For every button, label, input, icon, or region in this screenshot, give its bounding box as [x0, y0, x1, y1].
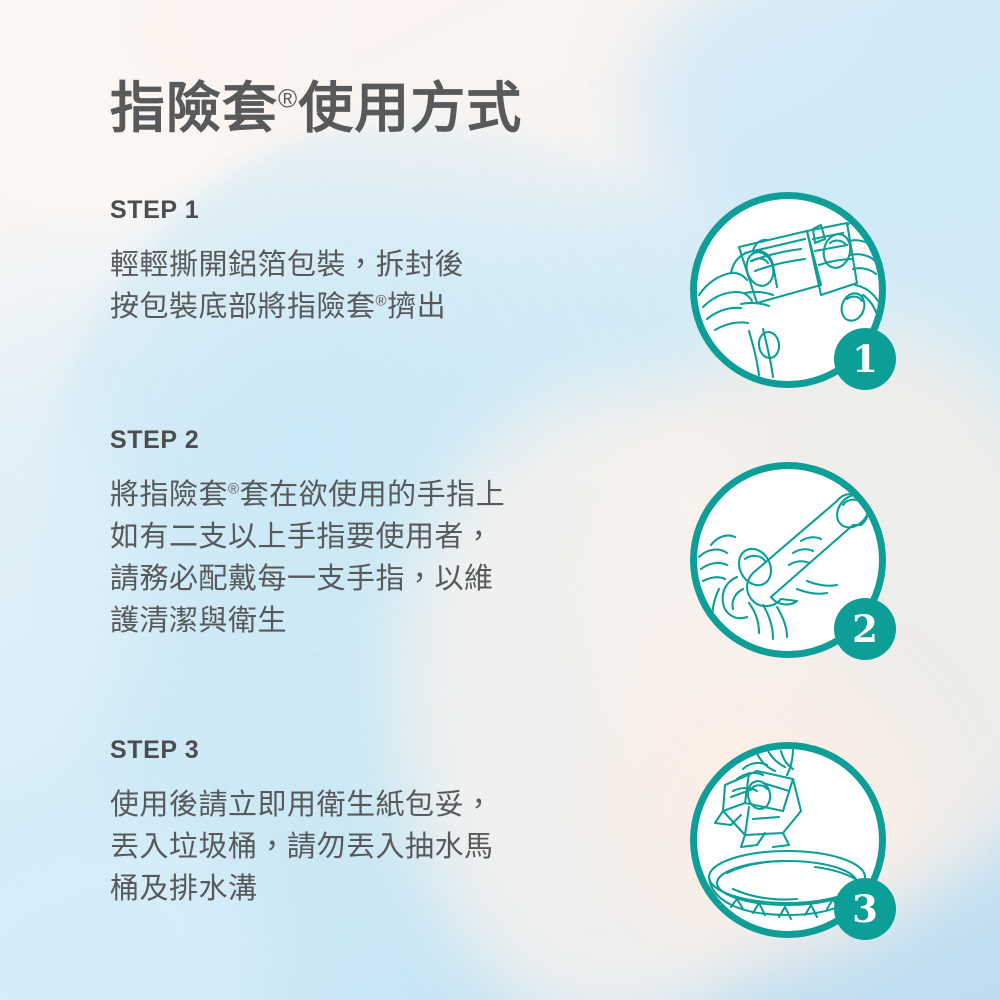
- step-2-line-1-tail: 套在欲使用的手指上: [240, 479, 506, 511]
- step-1-line-2-tail: 擠出: [387, 291, 446, 323]
- step-2-line-1-head: 將指險套: [110, 479, 228, 511]
- page-title-suffix: 使用方式: [298, 77, 522, 139]
- step-1-line-1: 輕輕撕開鋁箔包裝，拆封後: [110, 244, 630, 286]
- step-body-1: 輕輕撕開鋁箔包裝，拆封後 按包裝底部將指險套®擠出: [110, 244, 630, 328]
- page-title-main: 指險套: [110, 77, 278, 139]
- step-2-line-1: 將指險套®套在欲使用的手指上: [110, 474, 630, 516]
- registered-mark-icon: ®: [228, 480, 240, 497]
- step-badge-1: 1: [834, 328, 896, 390]
- step-label-3: STEP 3: [110, 736, 630, 765]
- step-badge-2: 2: [834, 598, 896, 660]
- step-badge-3: 3: [834, 878, 896, 940]
- step-section-1: STEP 1 輕輕撕開鋁箔包裝，拆封後 按包裝底部將指險套®擠出: [110, 196, 630, 328]
- step-label-1: STEP 1: [110, 196, 630, 225]
- step-2-line-3: 請務必配戴每一支手指，以維: [110, 558, 630, 600]
- registered-mark-icon: ®: [278, 84, 298, 114]
- step-1-line-2-head: 按包裝底部將指險套: [110, 291, 376, 323]
- illustration-step-1: 1: [690, 192, 890, 392]
- step-section-3: STEP 3 使用後請立即用衛生紙包妥， 丟入垃圾桶，請勿丟入抽水馬 桶及排水溝: [110, 736, 630, 910]
- step-3-line-2: 丟入垃圾桶，請勿丟入抽水馬: [110, 826, 630, 868]
- step-2-line-2: 如有二支以上手指要使用者，: [110, 516, 630, 558]
- registered-mark-icon: ®: [376, 292, 388, 309]
- page-title: 指險套®使用方式: [110, 78, 522, 139]
- step-section-2: STEP 2 將指險套®套在欲使用的手指上 如有二支以上手指要使用者， 請務必配…: [110, 426, 630, 642]
- step-body-2: 將指險套®套在欲使用的手指上 如有二支以上手指要使用者， 請務必配戴每一支手指，…: [110, 474, 630, 642]
- step-2-line-4: 護清潔與衛生: [110, 600, 630, 642]
- illustration-step-2: 2: [690, 462, 890, 662]
- illustration-step-3: 3: [690, 742, 890, 942]
- step-3-line-1: 使用後請立即用衛生紙包妥，: [110, 784, 630, 826]
- step-body-3: 使用後請立即用衛生紙包妥， 丟入垃圾桶，請勿丟入抽水馬 桶及排水溝: [110, 784, 630, 910]
- step-label-2: STEP 2: [110, 426, 630, 455]
- step-1-line-2: 按包裝底部將指險套®擠出: [110, 286, 630, 328]
- step-3-line-3: 桶及排水溝: [110, 868, 630, 910]
